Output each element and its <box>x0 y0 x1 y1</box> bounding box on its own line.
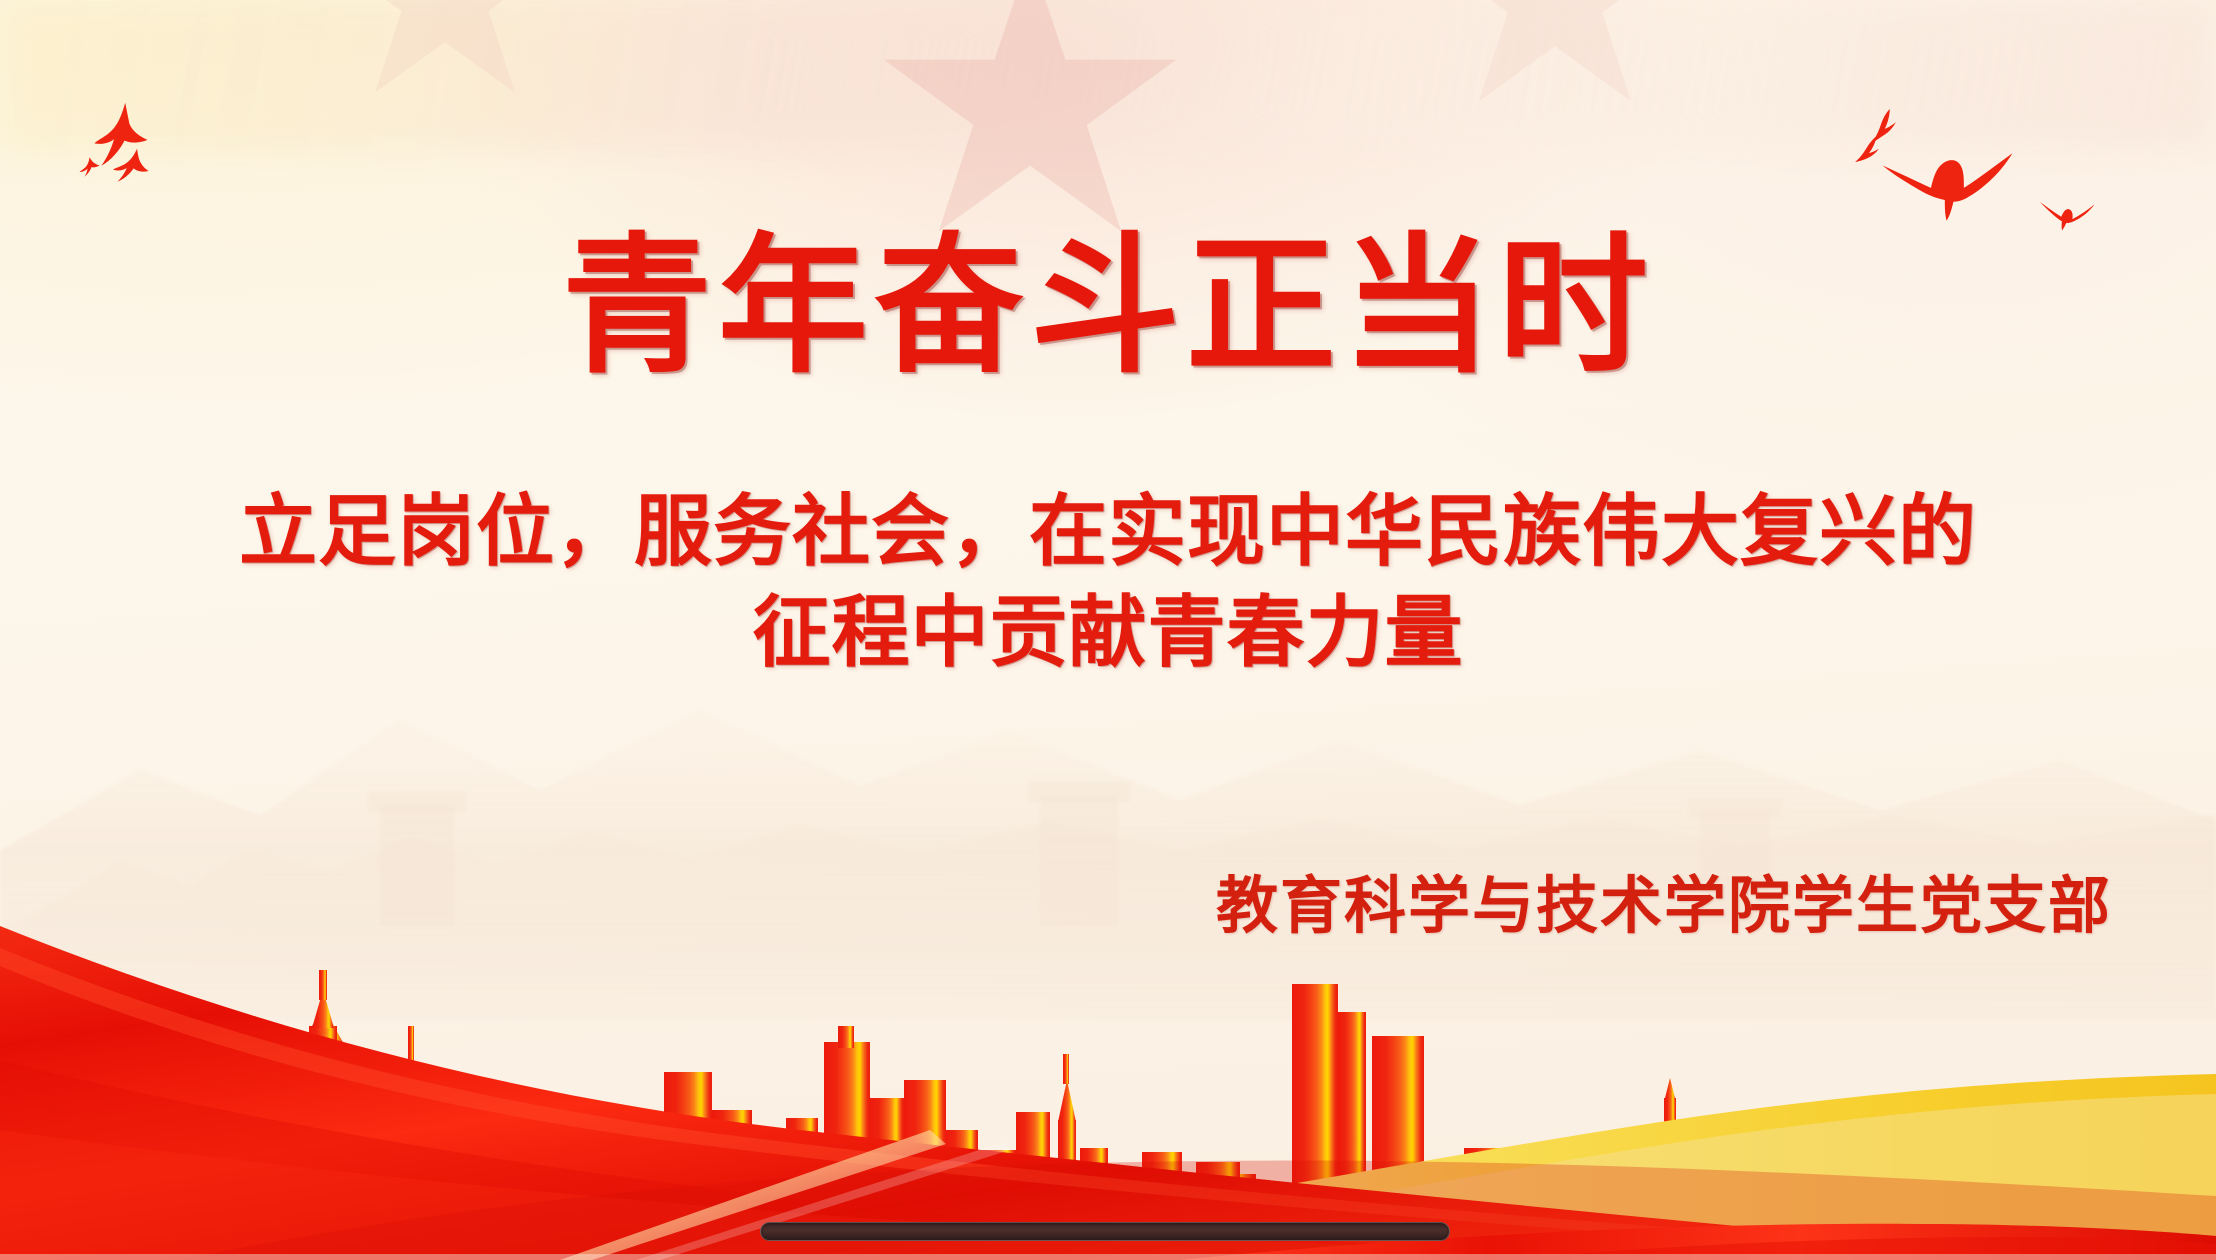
dove-icon <box>77 154 103 178</box>
presentation-slide: 青年奋斗正当时 立足岗位，服务社会，在实现中华民族伟大复兴的 征程中贡献青春力量… <box>0 0 2216 1260</box>
five-pointed-star-icon-tertiary <box>1430 0 1680 120</box>
page-title: 青年奋斗正当时 <box>0 232 2216 382</box>
dove-icon <box>109 142 159 189</box>
horizontal-scrollbar[interactable] <box>760 1222 1450 1241</box>
city-skyline-icon <box>0 830 2216 1260</box>
five-pointed-star-icon <box>880 0 1180 254</box>
five-pointed-star-icon-secondary <box>330 0 560 110</box>
dove-icon <box>2033 195 2098 235</box>
subtitle-block: 立足岗位，服务社会，在实现中华民族伟大复兴的 征程中贡献青春力量 <box>0 482 2216 685</box>
headline-block: 青年奋斗正当时 <box>0 232 2216 382</box>
subtitle-line-1: 立足岗位，服务社会，在实现中华民族伟大复兴的 <box>0 482 2216 583</box>
subtitle-line-2: 征程中贡献青春力量 <box>0 583 2216 684</box>
dove-icon <box>1875 148 2025 226</box>
